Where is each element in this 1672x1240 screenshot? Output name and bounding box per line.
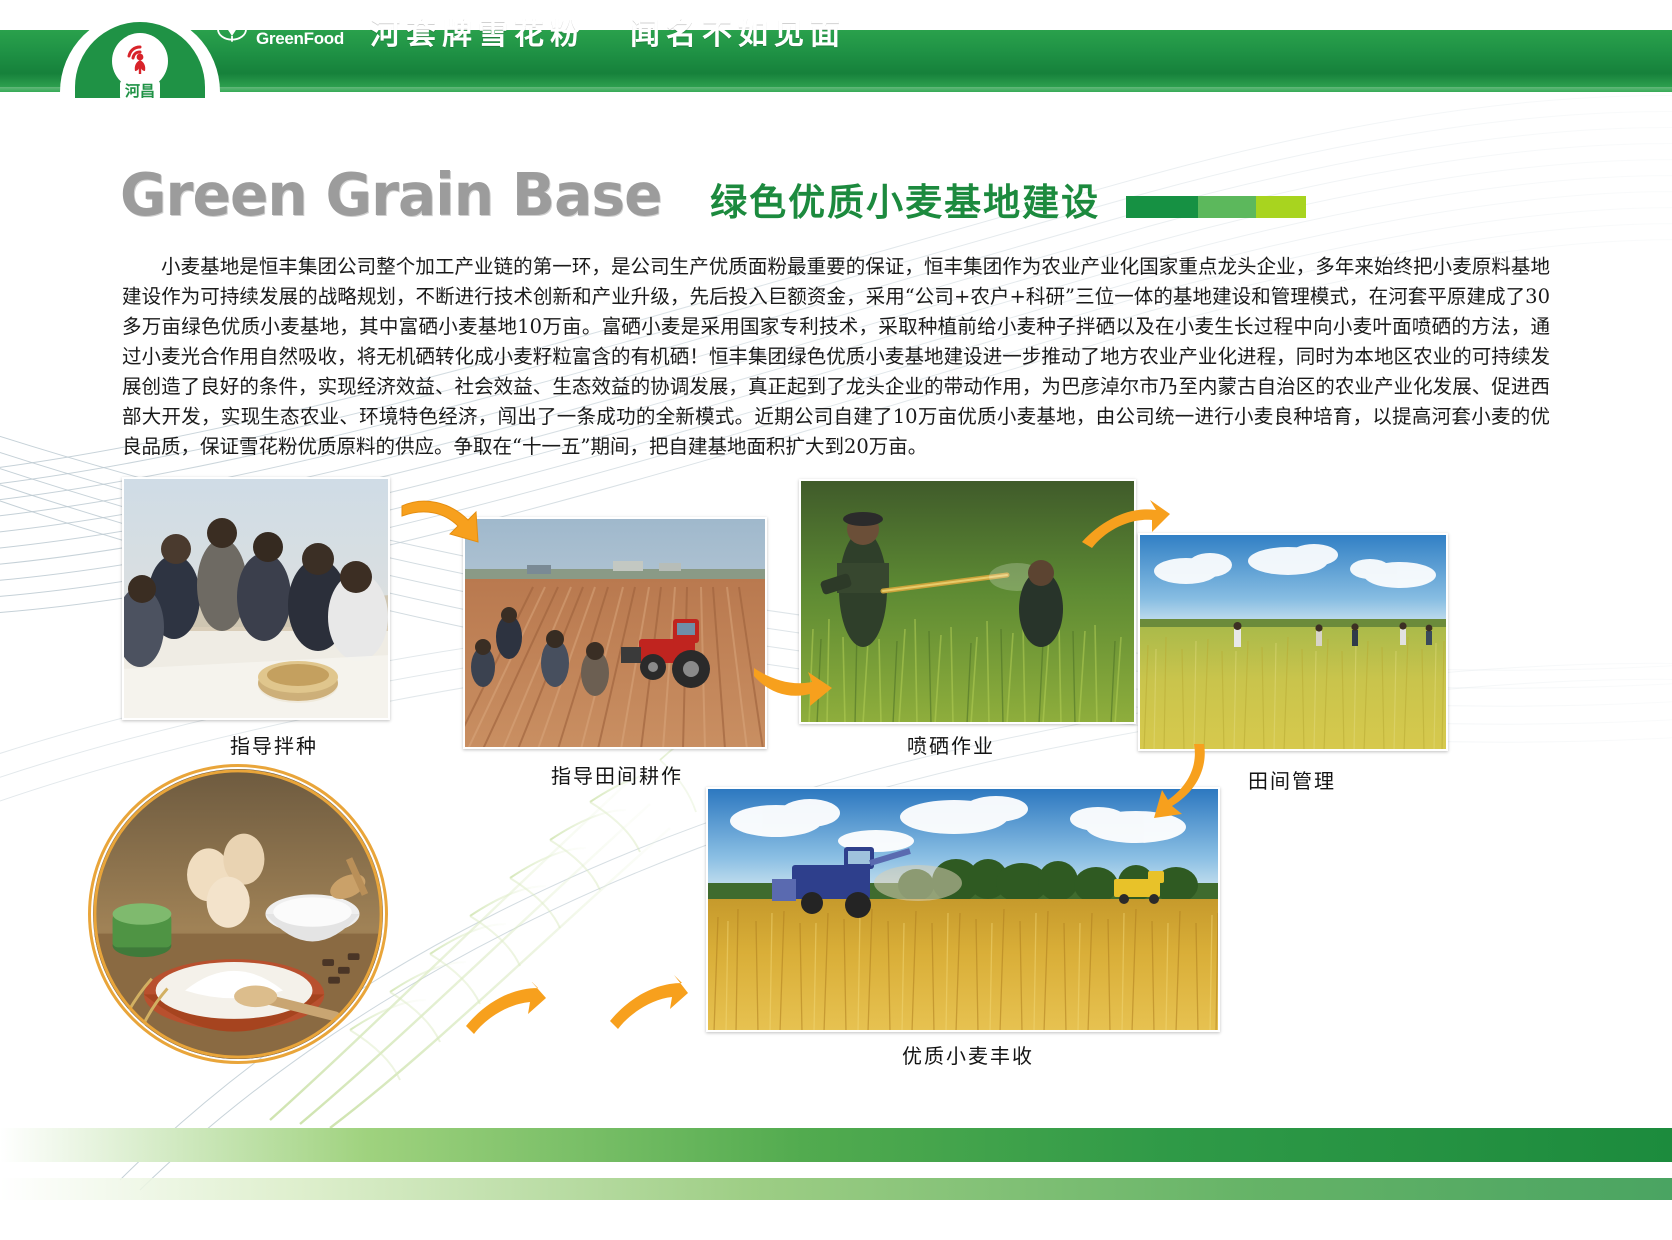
photo-wheat-harvest: [706, 787, 1220, 1032]
greenfood-certification-logo: 绿色食品 GreenFood: [215, 16, 344, 47]
photo-flour-products-circle: [88, 764, 388, 1064]
title-bar-segment-2: [1198, 196, 1256, 218]
greenfood-label-cn: 绿色食品: [256, 16, 344, 29]
body-paragraph: 小麦基地是恒丰集团公司整个加工产业链的第一环，是公司生产优质面粉最重要的保证，恒…: [122, 252, 1550, 462]
flow-arrow-1: [398, 494, 484, 552]
greenfood-leaf-icon: [215, 17, 249, 45]
flow-arrow-5: [462, 982, 546, 1036]
flow-arrow-6: [608, 975, 688, 1031]
header-content: 绿色食品 GreenFood 河套牌雪花粉 闻名不如见面: [215, 0, 846, 62]
wheat-sprout-icon: [117, 38, 163, 84]
company-logo: 河昌: [98, 33, 182, 99]
photo-seed-mixing-guidance: [122, 477, 390, 720]
page-title-english: Green Grain Base: [120, 160, 662, 229]
caption-photo-2: 指导田间耕作: [551, 760, 683, 789]
header-slogan-secondary: 闻名不如见面: [630, 9, 846, 53]
page-title-row: Green Grain Base 绿色优质小麦基地建设: [120, 160, 1100, 229]
title-bar-segment-3: [1256, 196, 1306, 218]
flow-arrow-4: [1146, 740, 1222, 822]
header-slogan-primary: 河套牌雪花粉: [370, 9, 586, 53]
flow-arrow-3: [1078, 500, 1170, 552]
flow-arrow-2: [752, 662, 834, 718]
greenfood-label-en: GreenFood: [256, 30, 344, 47]
photo-field-tilling-guidance: [463, 517, 767, 749]
footer-band-secondary: [0, 1178, 1672, 1200]
title-accent-bar: [1126, 196, 1306, 218]
logo-company-name: 河昌: [120, 80, 160, 101]
caption-photo-3: 喷硒作业: [907, 730, 995, 759]
page-title-chinese: 绿色优质小麦基地建设: [710, 172, 1100, 226]
caption-photo-5: 优质小麦丰收: [902, 1040, 1034, 1069]
title-bar-segment-1: [1126, 196, 1198, 218]
footer-decoration: [0, 1060, 1672, 1240]
footer-band-primary: [0, 1128, 1672, 1162]
caption-photo-4: 田间管理: [1248, 765, 1336, 794]
photo-field-management: [1138, 533, 1448, 751]
caption-photo-1: 指导拌种: [230, 730, 318, 759]
